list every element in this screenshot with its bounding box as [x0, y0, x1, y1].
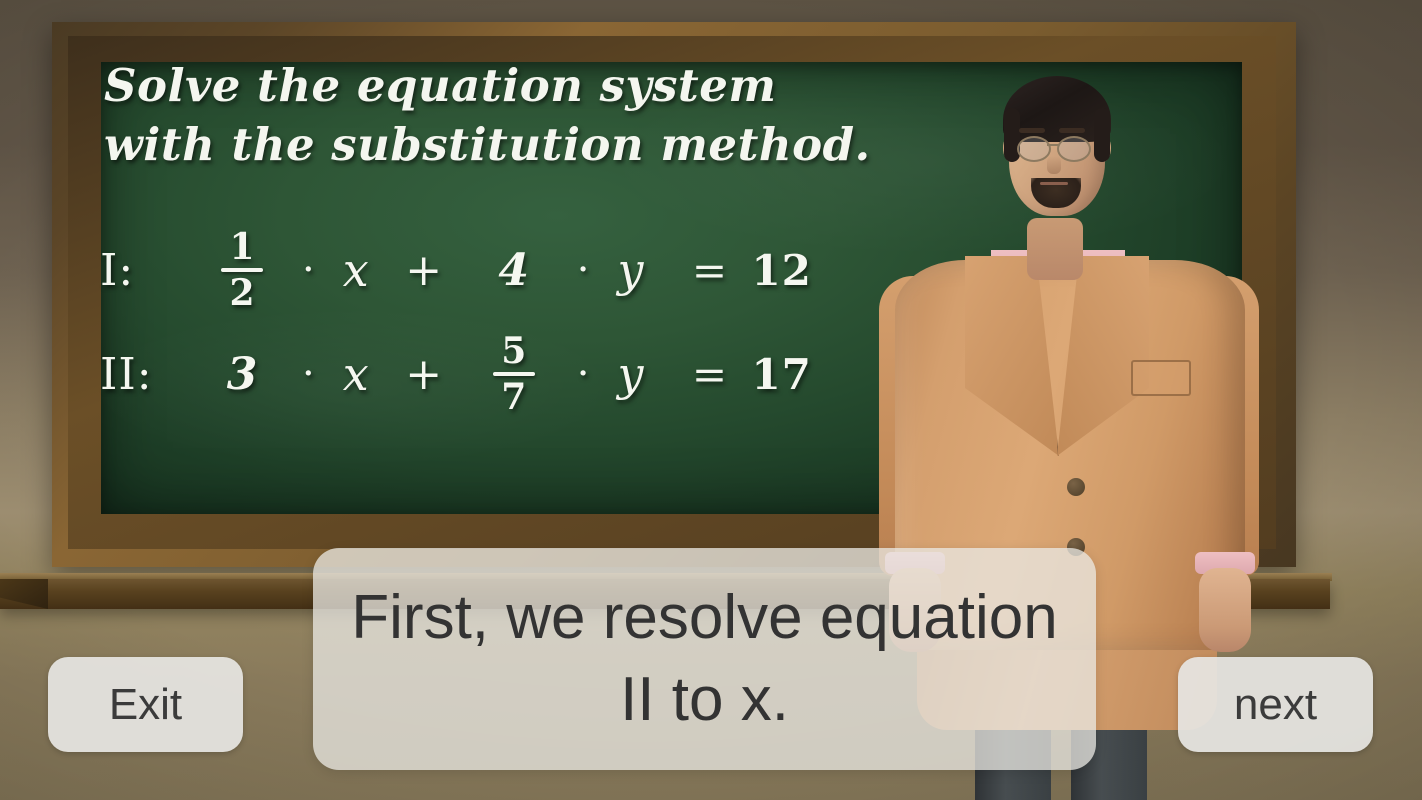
equation-1-variable-2: y	[593, 243, 667, 297]
fraction-denominator: 7	[501, 376, 526, 415]
equation-2-operator-1: ·	[298, 351, 319, 397]
page-title: Solve the equation system with the subst…	[104, 56, 894, 175]
equation-2-variable-1: x	[319, 347, 393, 401]
exit-button[interactable]: Exit	[48, 657, 243, 752]
dialogue-box[interactable]: First, we resolve equation II to x.	[313, 548, 1096, 770]
equation-1-equals: =	[667, 246, 751, 295]
equation-label-1: I:	[100, 245, 186, 296]
equation-2-coefficient-2: 5 7	[455, 333, 573, 415]
equation-2-operator-2: ·	[573, 351, 594, 397]
equation-2-coefficient-1: 3	[186, 349, 298, 400]
teacher-hand-right	[1199, 568, 1251, 652]
teacher-neck	[1027, 218, 1083, 280]
equation-system: I: 1 2 · x + 4 · y = 12 II: 3 · x +	[100, 218, 812, 426]
next-button-label: next	[1234, 680, 1317, 730]
equation-1-sign: +	[393, 245, 455, 296]
equation-1-coefficient-2: 4	[455, 245, 573, 296]
teacher-eyebrow-right	[1059, 128, 1085, 133]
teacher-nose	[1047, 156, 1061, 174]
equation-label-2: II:	[100, 349, 186, 400]
equation-1-operator-1: ·	[298, 247, 319, 293]
fraction-one-half: 1 2	[221, 229, 263, 311]
equation-row-1: I: 1 2 · x + 4 · y = 12	[100, 218, 812, 322]
equation-2-sign: +	[393, 349, 455, 400]
fraction-denominator: 2	[229, 272, 254, 311]
equation-1-operator-2: ·	[573, 247, 594, 293]
teacher-breast-pocket	[1131, 360, 1191, 396]
glasses-lens-right-icon	[1057, 136, 1091, 162]
teacher-eyebrow-left	[1019, 128, 1045, 133]
teacher-mouth	[1040, 182, 1068, 185]
equation-2-equals: =	[667, 350, 751, 399]
teacher-hair-side-right	[1094, 108, 1110, 162]
glasses-bridge-icon	[1047, 144, 1059, 146]
fraction-five-sevenths: 5 7	[493, 333, 535, 415]
fraction-numerator: 5	[501, 333, 526, 372]
fraction-numerator: 1	[229, 229, 254, 268]
glasses-lens-left-icon	[1017, 136, 1051, 162]
game-scene: Solve the equation system with the subst…	[0, 0, 1422, 800]
dialogue-text: First, we resolve equation II to x.	[313, 577, 1096, 741]
equation-1-rhs: 12	[751, 246, 811, 295]
next-button[interactable]: next	[1178, 657, 1373, 752]
equation-2-variable-2: y	[593, 347, 667, 401]
equation-1-variable-1: x	[319, 243, 393, 297]
equation-1-coefficient-1: 1 2	[186, 229, 298, 311]
equation-2-rhs: 17	[751, 350, 811, 399]
teacher-jacket-button-top	[1067, 478, 1085, 496]
equation-row-2: II: 3 · x + 5 7 · y = 17	[100, 322, 812, 426]
exit-button-label: Exit	[109, 680, 182, 730]
